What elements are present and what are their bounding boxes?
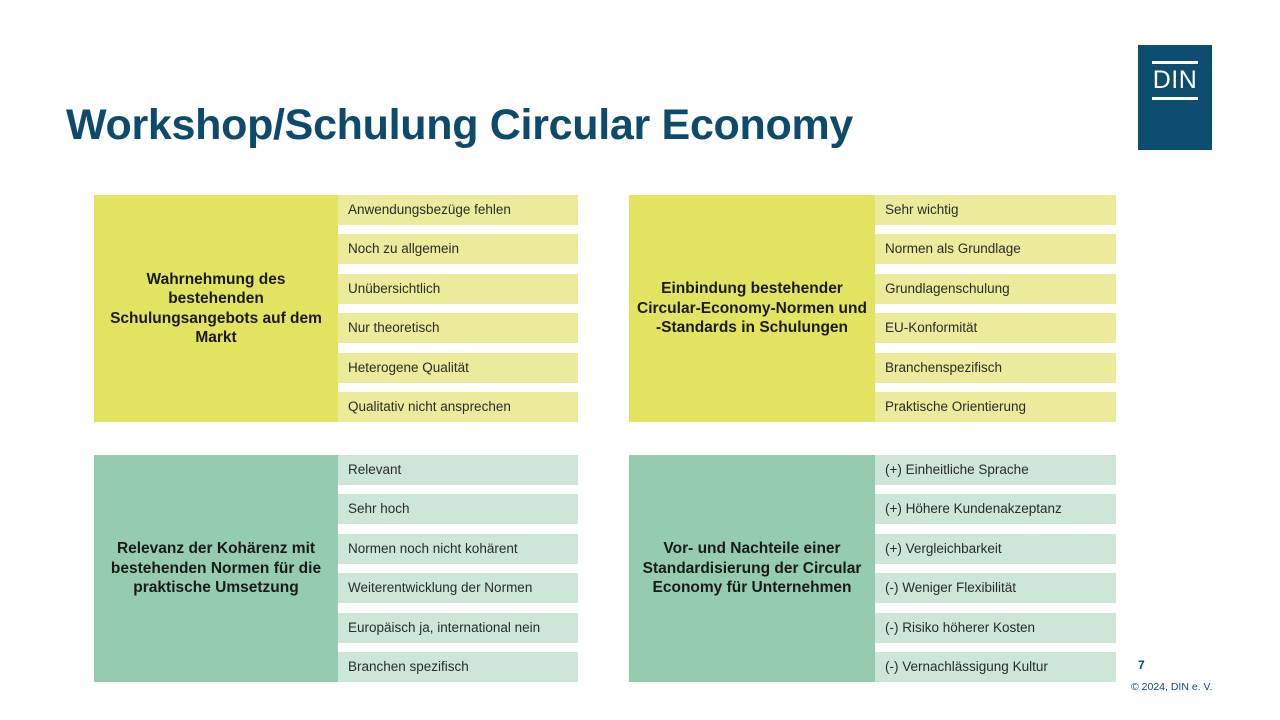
topic-group-label: Einbindung bestehender Circular-Economy-… [629,195,875,422]
list-item: (-) Weniger Flexibilität [875,573,1116,603]
din-logo: DIN [1138,45,1212,150]
list-item: Grundlagenschulung [875,274,1116,304]
topic-group-label: Vor- und Nachteile einer Standardisierun… [629,455,875,682]
list-item: Branchenspezifisch [875,353,1116,383]
list-item: Heterogene Qualität [338,353,578,383]
list-item: Sehr hoch [338,494,578,524]
list-item: (-) Risiko höherer Kosten [875,613,1116,643]
din-logo-wordmark: DIN [1152,64,1198,97]
list-item: Weiterentwicklung der Normen [338,573,578,603]
topic-group-perception: Wahrnehmung des bestehenden Schulungsang… [94,195,578,422]
list-item: Qualitativ nicht ansprechen [338,392,578,422]
list-item: Normen als Grundlage [875,234,1116,264]
din-logo-inner: DIN [1152,61,1198,100]
list-item: Relevant [338,455,578,485]
list-item: Sehr wichtig [875,195,1116,225]
topic-group-pros-and-cons: Vor- und Nachteile einer Standardisierun… [629,455,1116,682]
topic-group-label: Wahrnehmung des bestehenden Schulungsang… [94,195,338,422]
topic-group-integration: Einbindung bestehender Circular-Economy-… [629,195,1116,422]
topic-group-items: Sehr wichtig Normen als Grundlage Grundl… [875,195,1116,422]
list-item: (+) Höhere Kundenakzeptanz [875,494,1116,524]
list-item: Europäisch ja, international nein [338,613,578,643]
din-logo-rule-bottom [1152,97,1198,100]
topic-group-items: Anwendungsbezüge fehlen Noch zu allgemei… [338,195,578,422]
topic-group-coherence: Relevanz der Kohärenz mit bestehenden No… [94,455,578,682]
topic-group-items: Relevant Sehr hoch Normen noch nicht koh… [338,455,578,682]
slide-canvas: DIN Workshop/Schulung Circular Economy W… [0,0,1280,720]
list-item: Branchen spezifisch [338,652,578,682]
list-item: Unübersichtlich [338,274,578,304]
list-item: EU-Konformität [875,313,1116,343]
copyright-notice: © 2024, DIN e. V. [1131,681,1212,693]
topic-group-label: Relevanz der Kohärenz mit bestehenden No… [94,455,338,682]
list-item: Praktische Orientierung [875,392,1116,422]
list-item: (+) Einheitliche Sprache [875,455,1116,485]
list-item: (+) Vergleichbarkeit [875,534,1116,564]
list-item: Nur theoretisch [338,313,578,343]
list-item: (-) Vernachlässigung Kultur [875,652,1116,682]
list-item: Noch zu allgemein [338,234,578,264]
list-item: Normen noch nicht kohärent [338,534,578,564]
page-number: 7 [1138,658,1145,672]
topic-group-items: (+) Einheitliche Sprache (+) Höhere Kund… [875,455,1116,682]
list-item: Anwendungsbezüge fehlen [338,195,578,225]
page-title: Workshop/Schulung Circular Economy [66,99,1086,151]
